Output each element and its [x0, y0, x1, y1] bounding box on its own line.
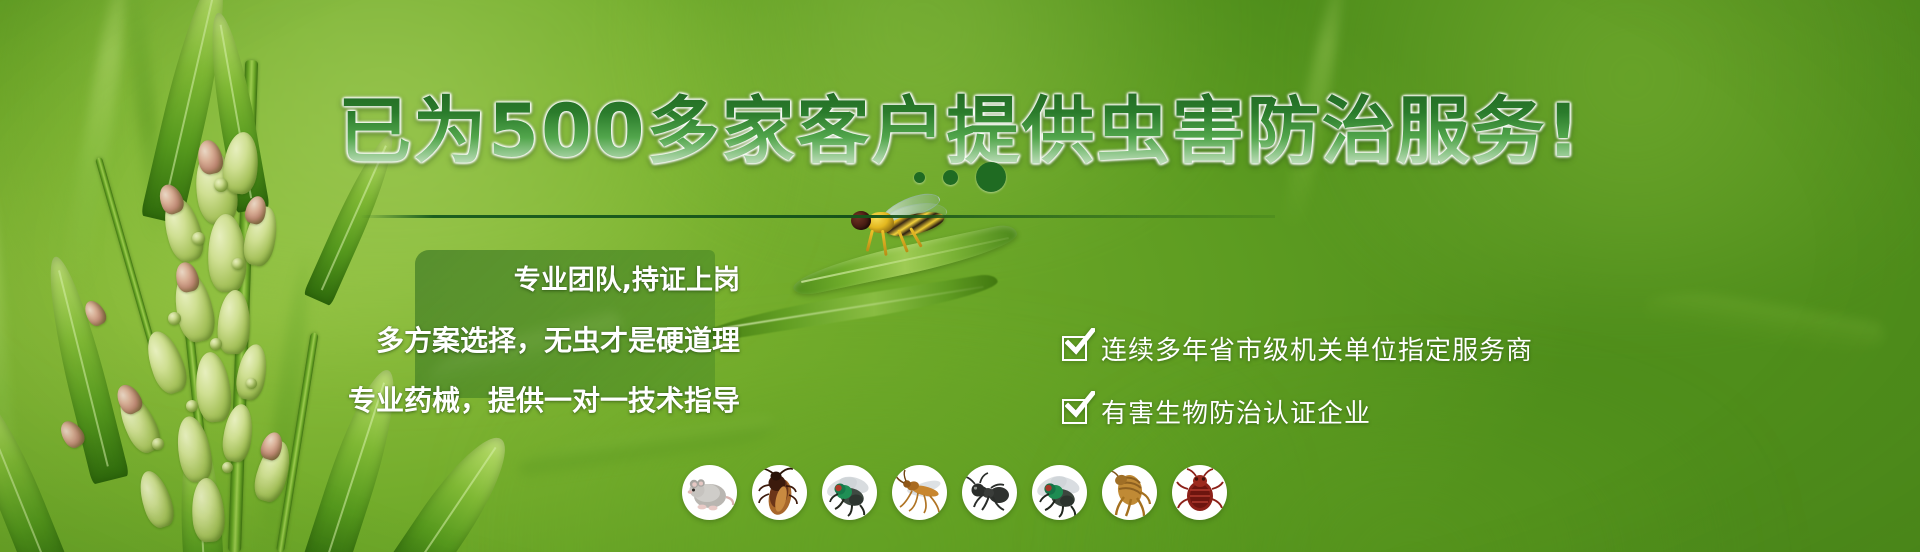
vignette-overlay	[0, 0, 1920, 552]
pest-control-hero-banner: 已为500多家客户提供虫害防治服务! 已为500多家客户提供虫害防治服务! 专业…	[0, 0, 1920, 552]
